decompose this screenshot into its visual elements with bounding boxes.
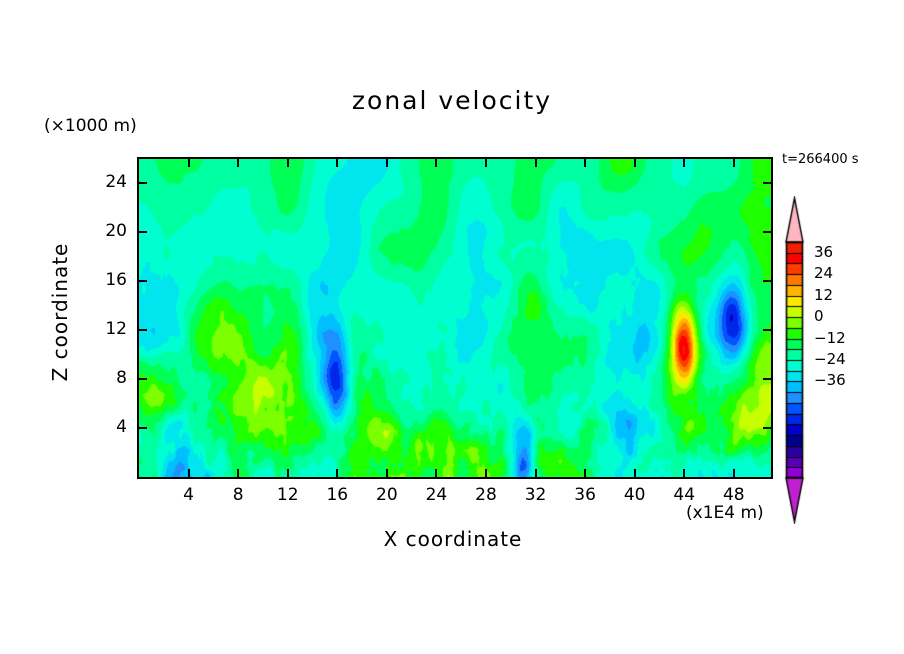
y-axis-unit-label: (×1000 m) bbox=[44, 116, 137, 136]
plot-title-text: zonal velocity bbox=[352, 86, 552, 115]
contour-plot-area[interactable] bbox=[137, 157, 773, 479]
colorbar-tick-labels: 3624120−12−24−36 bbox=[778, 196, 898, 524]
x-axis-tick-label: 12 bbox=[268, 485, 308, 505]
x-axis-tick-label: 28 bbox=[466, 485, 506, 505]
y-axis-title: Z coordinate bbox=[48, 212, 72, 412]
x-axis-tick-label: 20 bbox=[367, 485, 407, 505]
x-axis-tick-label: 32 bbox=[516, 485, 556, 505]
colorbar-tick-label: −24 bbox=[814, 350, 846, 368]
x-axis-tick-label: 16 bbox=[317, 485, 357, 505]
x-axis-tick-label: 40 bbox=[615, 485, 655, 505]
time-stamp-label: t=266400 s bbox=[782, 152, 859, 167]
x-axis-tick-label: 8 bbox=[218, 485, 258, 505]
y-axis-tick-label: 12 bbox=[87, 319, 127, 339]
colorbar-tick-label: 12 bbox=[814, 286, 833, 304]
x-axis-tick-label: 4 bbox=[169, 485, 209, 505]
contour-field-canvas[interactable] bbox=[139, 159, 771, 477]
y-axis-tick-label: 16 bbox=[87, 270, 127, 290]
x-axis-unit-label: (x1E4 m) bbox=[686, 503, 764, 523]
colorbar-tick-label: −12 bbox=[814, 329, 846, 347]
colorbar-tick-label: −36 bbox=[814, 371, 846, 389]
x-axis-title: X coordinate bbox=[137, 527, 769, 551]
y-axis-tick-label: 20 bbox=[87, 221, 127, 241]
y-axis-tick-label: 8 bbox=[87, 368, 127, 388]
colorbar-tick-label: 24 bbox=[814, 264, 833, 282]
y-axis-tick-label: 4 bbox=[87, 417, 127, 437]
colorbar-tick-label: 0 bbox=[814, 307, 824, 325]
x-axis-tick-label: 48 bbox=[714, 485, 754, 505]
colorbar-tick-label: 36 bbox=[814, 243, 833, 261]
x-axis-tick-label: 36 bbox=[565, 485, 605, 505]
y-axis-tick-label: 24 bbox=[87, 172, 127, 192]
x-axis-tick-label: 44 bbox=[664, 485, 704, 505]
page-title: zonal velocity bbox=[0, 86, 904, 115]
x-axis-tick-label: 24 bbox=[416, 485, 456, 505]
